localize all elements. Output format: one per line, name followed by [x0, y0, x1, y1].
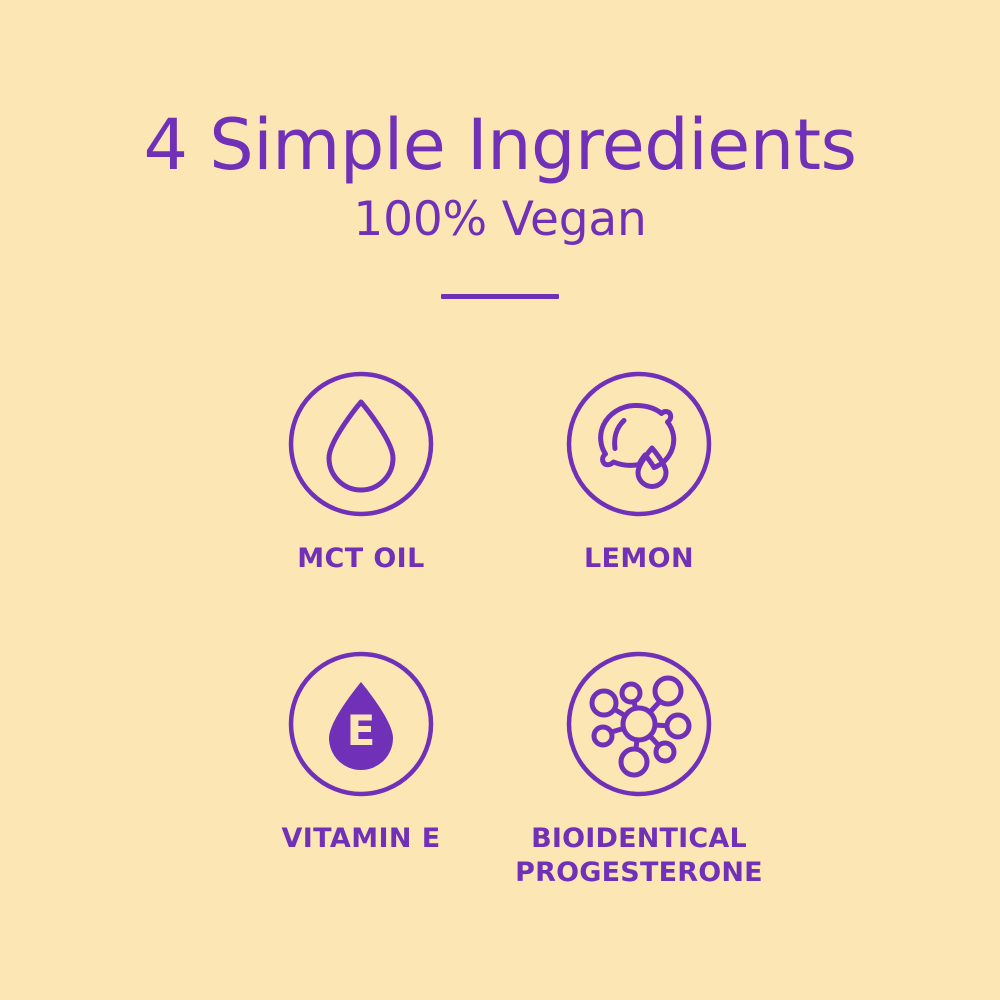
molecule-core-node — [623, 708, 655, 740]
molecule-node-7 — [667, 715, 689, 737]
molecule-node-5 — [621, 749, 647, 775]
ingredient-label: MCT OIL — [297, 542, 425, 576]
ingredient-item-lemon: LEMON — [500, 370, 778, 576]
molecule-icon-svg — [565, 650, 713, 798]
droplet-outline-icon-svg — [287, 370, 435, 518]
molecule-node-6 — [656, 743, 674, 761]
ingredient-item-bioidentical-progesterone: BIOIDENTICAL PROGESTERONE — [500, 650, 778, 890]
molecule-node-1 — [655, 678, 681, 704]
badge-ring — [291, 374, 431, 514]
ingredient-label: BIOIDENTICAL PROGESTERONE — [515, 822, 763, 890]
molecule-node-3 — [592, 691, 616, 715]
molecule-node-4 — [594, 727, 612, 745]
ingredient-item-vitamin-e: E VITAMIN E — [222, 650, 500, 856]
molecule-node-2 — [622, 684, 640, 702]
ingredient-label: LEMON — [584, 542, 694, 576]
lemon-with-droplet-icon — [565, 370, 713, 518]
page-subtitle: 100% Vegan — [0, 186, 1000, 248]
vitamin-e-icon-svg: E — [287, 650, 435, 798]
lemon-body — [601, 405, 674, 467]
droplet-filled-e-icon: E — [287, 650, 435, 798]
droplet-shape — [329, 402, 393, 490]
vitamin-e-letter: E — [347, 706, 376, 755]
divider-rule — [441, 294, 559, 299]
divider-wrap — [0, 248, 1000, 304]
ingredients-row-2: E VITAMIN E — [0, 650, 1000, 930]
lemon-icon-svg — [565, 370, 713, 518]
header: 4 Simple Ingredients 100% Vegan — [0, 0, 1000, 304]
ingredients-infographic: 4 Simple Ingredients 100% Vegan MCT OIL — [0, 0, 1000, 1000]
ingredients-grid: MCT OIL LEMON — [0, 370, 1000, 930]
lemon-inner-arc — [615, 421, 624, 449]
page-title: 4 Simple Ingredients — [0, 0, 1000, 186]
ingredients-row-1: MCT OIL LEMON — [0, 370, 1000, 650]
molecule-icon — [565, 650, 713, 798]
badge-ring — [569, 374, 709, 514]
molecule-nodes — [592, 678, 689, 775]
ingredient-label: VITAMIN E — [281, 822, 440, 856]
ingredient-item-mct-oil: MCT OIL — [222, 370, 500, 576]
droplet-outline-icon — [287, 370, 435, 518]
